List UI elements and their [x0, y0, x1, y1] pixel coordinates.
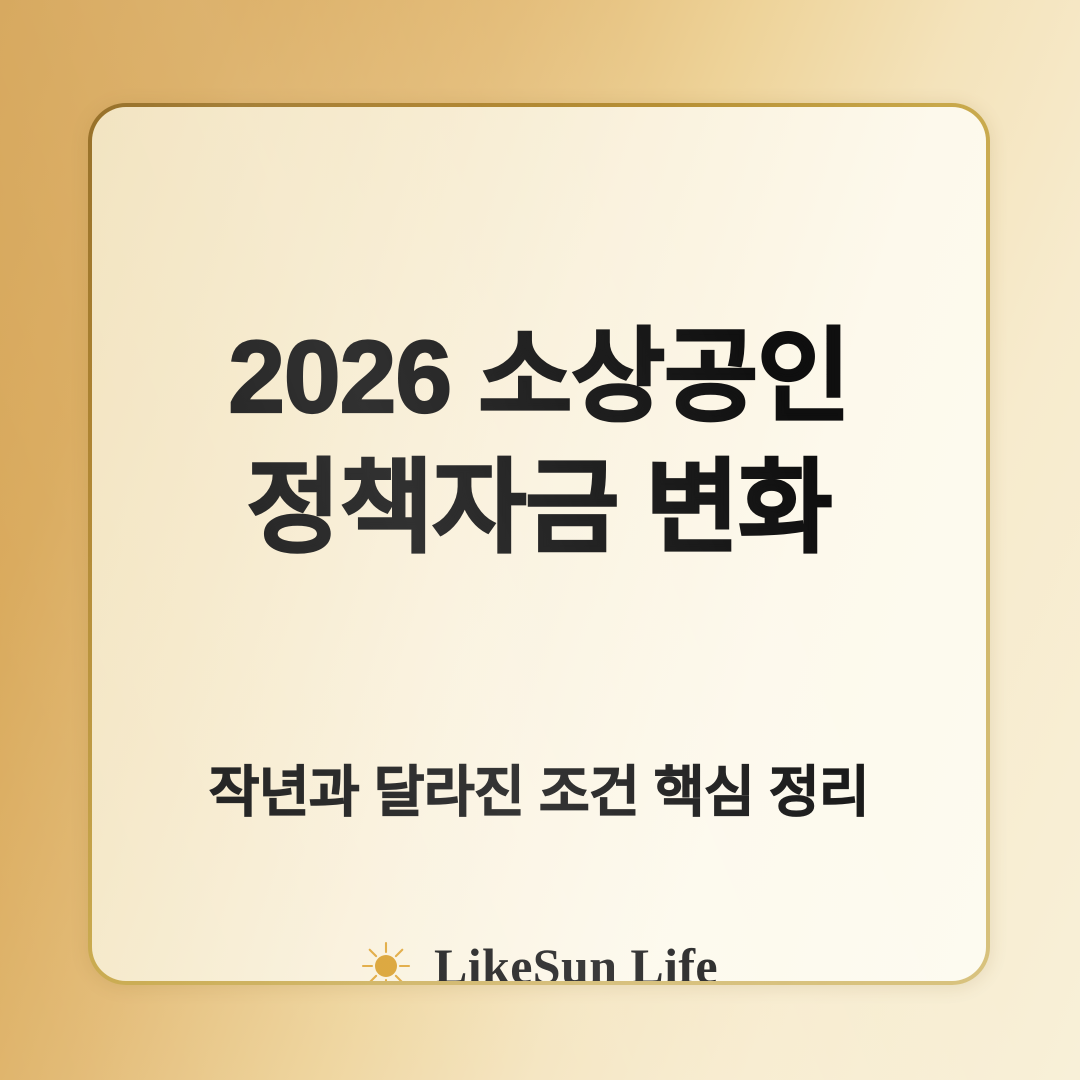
page-title-line-2: 정책자금 변화: [92, 443, 986, 574]
content-card: 2026 소상공인 정책자금 변화 작년과 달라진 조건 핵심 정리: [88, 103, 990, 985]
sun-icon: [360, 940, 412, 985]
page-subtitle: 작년과 달라진 조건 핵심 정리: [92, 759, 986, 825]
brand-lockup: LikeSun Life: [360, 940, 718, 985]
poster-canvas: 2026 소상공인 정책자금 변화 작년과 달라진 조건 핵심 정리: [0, 0, 1080, 1080]
brand-name: LikeSun Life: [434, 941, 718, 985]
page-title: 2026 소상공인 정책자금 변화: [92, 312, 986, 573]
page-title-line-1: 2026 소상공인: [92, 312, 986, 443]
